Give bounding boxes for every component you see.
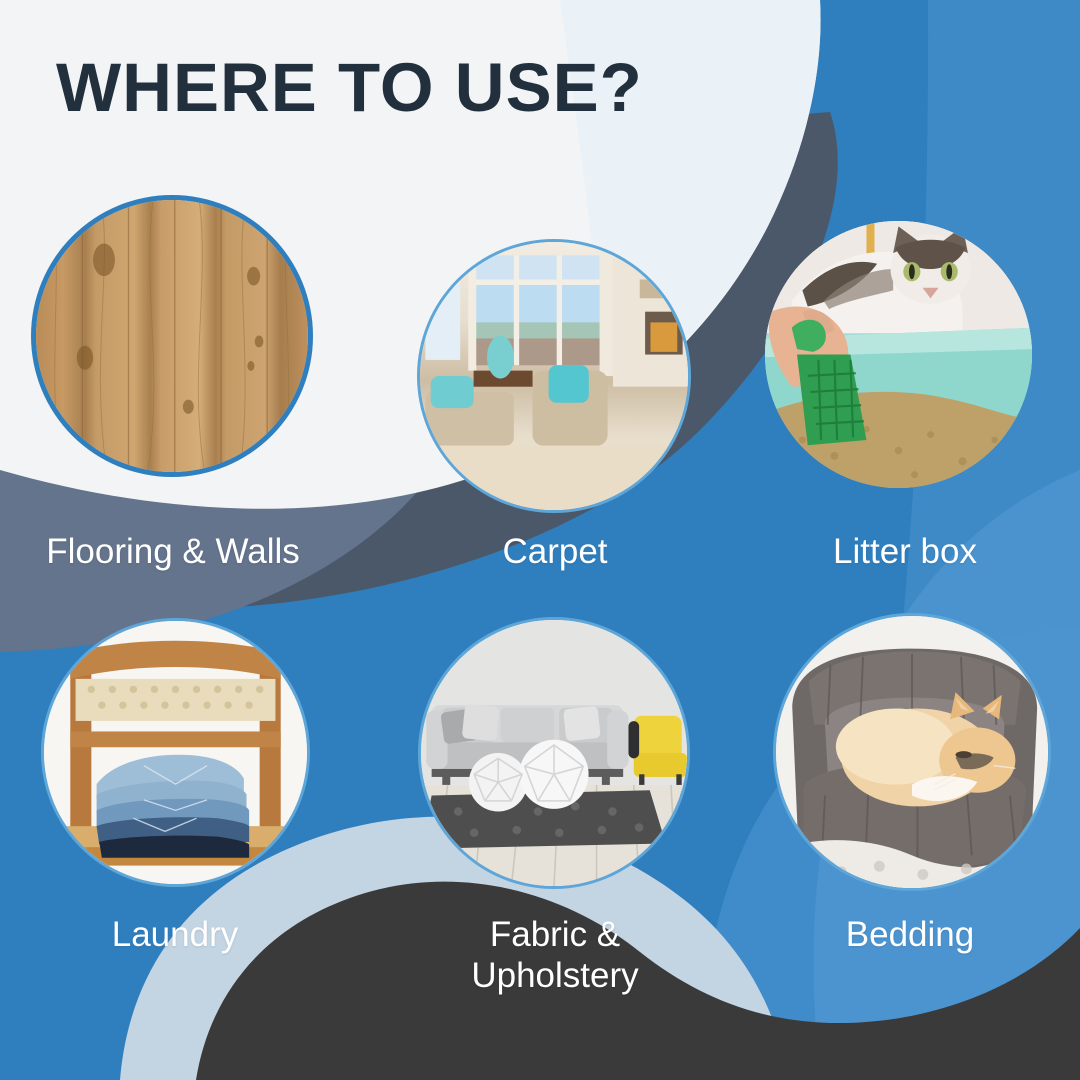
image-circle-bedding[interactable] [776,616,1048,888]
image-circle-fabric-upholstery[interactable] [421,620,687,886]
cat-in-pet-bed-photo-icon [776,616,1048,888]
label-flooring-walls: Flooring & Walls [8,531,338,572]
wood-planks-photo-icon [36,200,308,472]
label-laundry: Laundry [10,914,340,955]
living-room-carpet-photo-icon [420,242,688,510]
label-fabric-upholstery: Fabric & Upholstery [390,914,720,997]
label-bedding: Bedding [745,914,1075,955]
image-circle-flooring-walls[interactable] [36,200,308,472]
image-circle-litter-box[interactable] [765,221,1032,488]
cat-litter-box-photo-icon [765,221,1032,488]
grey-sofa-upholstery-photo-icon [421,620,687,886]
label-litter-box: Litter box [740,531,1070,572]
page-title: WHERE TO USE? [56,52,643,124]
folded-denim-laundry-photo-icon [44,621,307,884]
image-circle-carpet[interactable] [420,242,688,510]
poster-canvas: WHERE TO USE? [0,0,1080,1080]
image-circle-laundry[interactable] [44,621,307,884]
label-carpet: Carpet [390,531,720,572]
